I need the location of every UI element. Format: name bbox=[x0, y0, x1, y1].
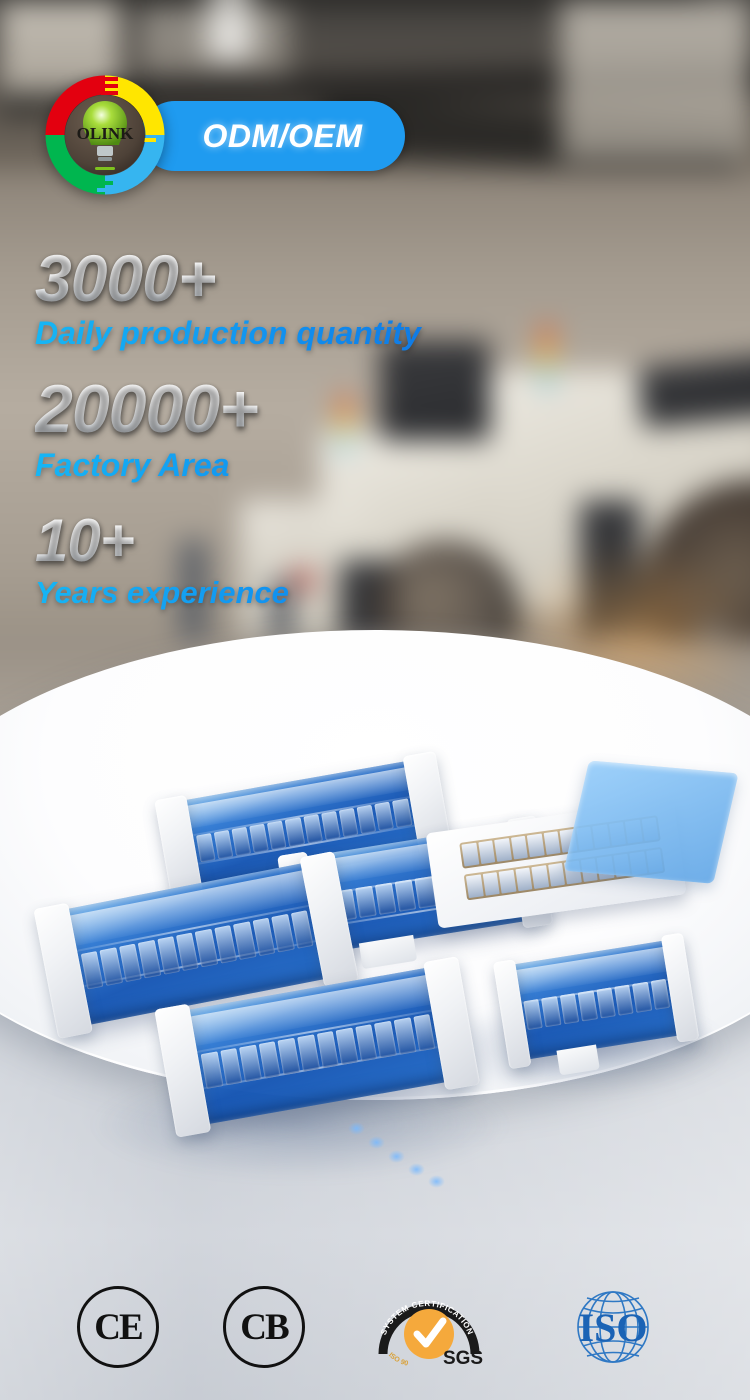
open-unit-lid bbox=[564, 760, 739, 883]
promo-banner: ODM/OEM bbox=[0, 0, 750, 1400]
ce-badge: CE bbox=[77, 1286, 159, 1368]
ceiling-panel bbox=[560, 0, 750, 160]
cb-badge-circle: CB bbox=[223, 1286, 305, 1368]
stat-daily-production: 3000+ Daily production quantity bbox=[35, 245, 595, 353]
odm-oem-label: ODM/OEM bbox=[183, 118, 363, 155]
certification-badges: CE CB SYSTEM CERTIFICATION I bbox=[0, 1272, 750, 1382]
stats-list: 3000+ Daily production quantity 20000+ F… bbox=[35, 245, 595, 629]
pendant-light bbox=[195, 0, 265, 60]
product-group bbox=[0, 770, 750, 1250]
stat-years-experience: 10+ Years experience bbox=[35, 510, 595, 610]
odm-oem-badge[interactable]: ODM/OEM bbox=[140, 101, 405, 171]
stat-number: 3000+ bbox=[35, 245, 595, 312]
iso-label: ISO bbox=[579, 1305, 648, 1350]
iso-badge: ISO bbox=[553, 1284, 673, 1370]
stat-number: 20000+ bbox=[35, 375, 595, 444]
olink-logo[interactable]: OLINK bbox=[45, 75, 165, 195]
cb-badge: CB bbox=[223, 1286, 305, 1368]
ce-badge-label: CE bbox=[94, 1306, 141, 1349]
ce-badge-circle: CE bbox=[77, 1286, 159, 1368]
stat-factory-area: 20000+ Factory Area bbox=[35, 375, 595, 485]
open-terminal-block bbox=[422, 766, 729, 945]
logo-wordmark: OLINK bbox=[77, 124, 134, 143]
brand-header: ODM/OEM bbox=[45, 75, 375, 195]
cb-badge-label: CB bbox=[240, 1306, 287, 1349]
sgs-badge: SYSTEM CERTIFICATION ISO 9001:2008 SGS bbox=[369, 1284, 489, 1370]
sgs-label: SGS bbox=[443, 1348, 483, 1369]
stat-label: Factory Area bbox=[35, 446, 595, 484]
stat-label: Daily production quantity bbox=[35, 314, 595, 352]
stat-number: 10+ bbox=[35, 510, 595, 571]
stat-label: Years experience bbox=[35, 574, 595, 611]
